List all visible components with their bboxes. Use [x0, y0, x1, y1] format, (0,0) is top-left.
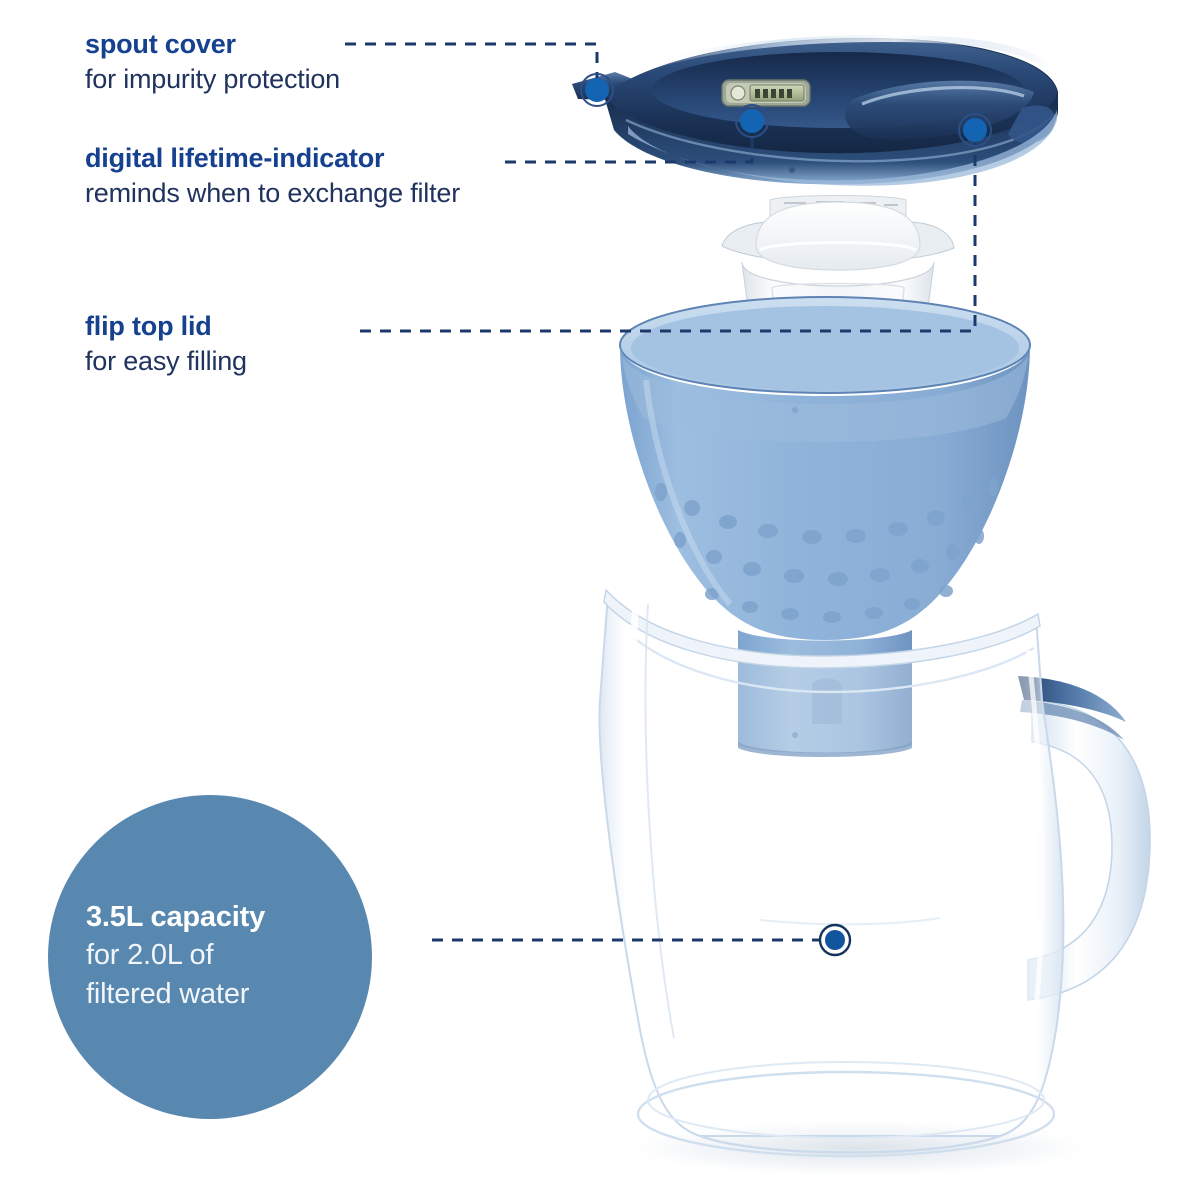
capacity-badge-headline: 3.5L capacity	[86, 898, 265, 936]
lid-screw-dot	[789, 167, 795, 173]
funnel-dot-mark	[792, 407, 798, 413]
pitcher-lid	[572, 38, 1058, 186]
callout-spout-cover: spout cover for impurity protection	[85, 29, 340, 97]
callout-flip-top-lid: flip top lid for easy filling	[85, 311, 247, 379]
callout-title-digital-lifetime-indicator: digital lifetime-indicator	[85, 143, 460, 174]
capacity-badge-line3: filtered water	[86, 975, 265, 1013]
capacity-badge: 3.5L capacity for 2.0L of filtered water	[48, 795, 372, 1119]
lcd-indicator	[722, 80, 810, 106]
callout-subtitle-flip-top-lid: for easy filling	[85, 345, 247, 379]
diagram-canvas: spout cover for impurity protection digi…	[0, 0, 1200, 1200]
callout-dot-capacity[interactable]	[820, 925, 850, 955]
callout-dot-spout-cover[interactable]	[581, 74, 613, 106]
jug-body	[599, 594, 1063, 1136]
lcd-button[interactable]	[731, 86, 745, 100]
cartridge-dome	[756, 202, 920, 270]
funnel-rim-inner	[631, 306, 1019, 390]
capacity-badge-text: 3.5L capacity for 2.0L of filtered water	[86, 898, 265, 1013]
capacity-badge-line2: for 2.0L of	[86, 936, 265, 974]
callout-dot-digital-indicator[interactable]	[736, 105, 768, 137]
callout-title-spout-cover: spout cover	[85, 29, 340, 60]
callout-digital-lifetime-indicator: digital lifetime-indicator reminds when …	[85, 143, 460, 211]
callout-subtitle-digital-lifetime-indicator: reminds when to exchange filter	[85, 177, 460, 211]
callout-title-flip-top-lid: flip top lid	[85, 311, 247, 342]
callout-dot-flip-top-lid[interactable]	[959, 114, 991, 146]
leader-spout-cover	[345, 44, 597, 80]
callout-subtitle-spout-cover: for impurity protection	[85, 63, 340, 97]
pitcher-jug	[599, 590, 1150, 1178]
